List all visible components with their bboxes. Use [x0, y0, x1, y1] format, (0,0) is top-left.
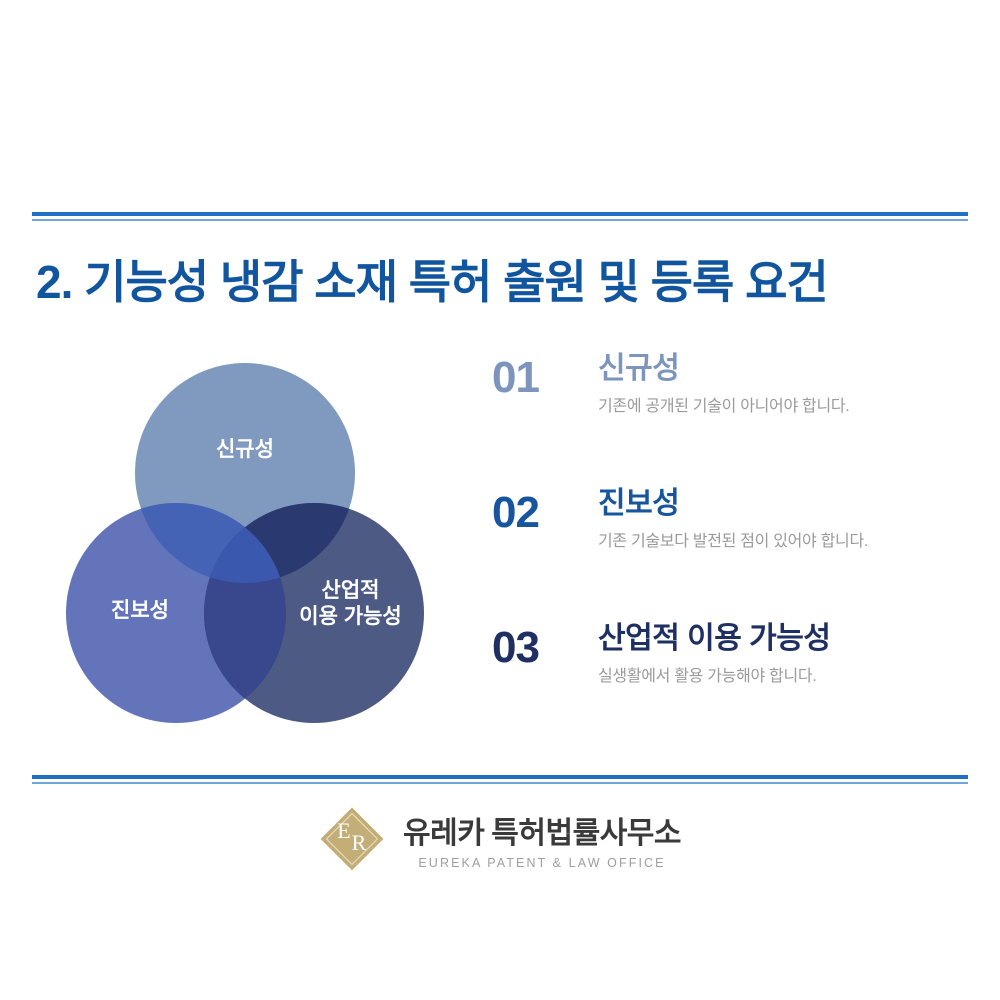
footer-logo: E R 유레카 특허법률사무소 EUREKA PATENT & LAW OFFI…	[0, 806, 1000, 872]
requirement-body-02: 진보성 기존 기술보다 발전된 점이 있어야 합니다.	[598, 487, 962, 551]
requirement-number-01: 01	[492, 356, 539, 400]
monogram-letter-e: E	[337, 818, 350, 843]
venn-diagram	[40, 350, 440, 740]
venn-diagram-svg	[40, 350, 440, 740]
firm-name-english: EUREKA PATENT & LAW OFFICE	[418, 856, 665, 870]
requirement-body-01: 신규성 기존에 공개된 기술이 아니어야 합니다.	[598, 352, 962, 416]
requirements-list: 01 신규성 기존에 공개된 기술이 아니어야 합니다. 02 진보성 기존 기…	[492, 352, 962, 757]
venn-label-inventive: 진보성	[55, 598, 225, 624]
top-divider	[32, 212, 968, 221]
requirement-number-03: 03	[492, 626, 539, 670]
requirement-description-01: 기존에 공개된 기술이 아니어야 합니다.	[598, 392, 962, 416]
bottom-divider-thin-line	[32, 782, 968, 784]
venn-label-industry-line1: 산업적	[258, 578, 443, 604]
requirement-title-03: 산업적 이용 가능성	[598, 622, 962, 657]
footer-logo-text: 유레카 특허법률사무소 EUREKA PATENT & LAW OFFICE	[403, 808, 681, 870]
requirement-description-02: 기존 기술보다 발전된 점이 있어야 합니다.	[598, 527, 962, 551]
venn-label-industry: 산업적 이용 가능성	[258, 578, 443, 631]
requirement-description-03: 실생활에서 활용 가능해야 합니다.	[598, 662, 962, 686]
requirement-item-03: 03 산업적 이용 가능성 실생활에서 활용 가능해야 합니다.	[492, 622, 962, 757]
requirement-item-02: 02 진보성 기존 기술보다 발전된 점이 있어야 합니다.	[492, 487, 962, 622]
requirement-number-02: 02	[492, 491, 539, 535]
requirement-body-03: 산업적 이용 가능성 실생활에서 활용 가능해야 합니다.	[598, 622, 962, 686]
top-divider-thin-line	[32, 219, 968, 221]
requirement-title-01: 신규성	[598, 352, 962, 387]
bottom-divider	[32, 775, 968, 784]
eureka-diamond-logo-icon: E R	[319, 806, 385, 872]
venn-label-industry-line2: 이용 가능성	[258, 604, 443, 630]
monogram-letter-r: R	[352, 830, 367, 855]
venn-label-novelty: 신규성	[170, 437, 320, 463]
page-title: 2. 기능성 냉감 소재 특허 출원 및 등록 요건	[36, 246, 828, 312]
firm-name-korean: 유레카 특허법률사무소	[403, 808, 681, 852]
requirement-item-01: 01 신규성 기존에 공개된 기술이 아니어야 합니다.	[492, 352, 962, 487]
requirement-title-02: 진보성	[598, 487, 962, 522]
